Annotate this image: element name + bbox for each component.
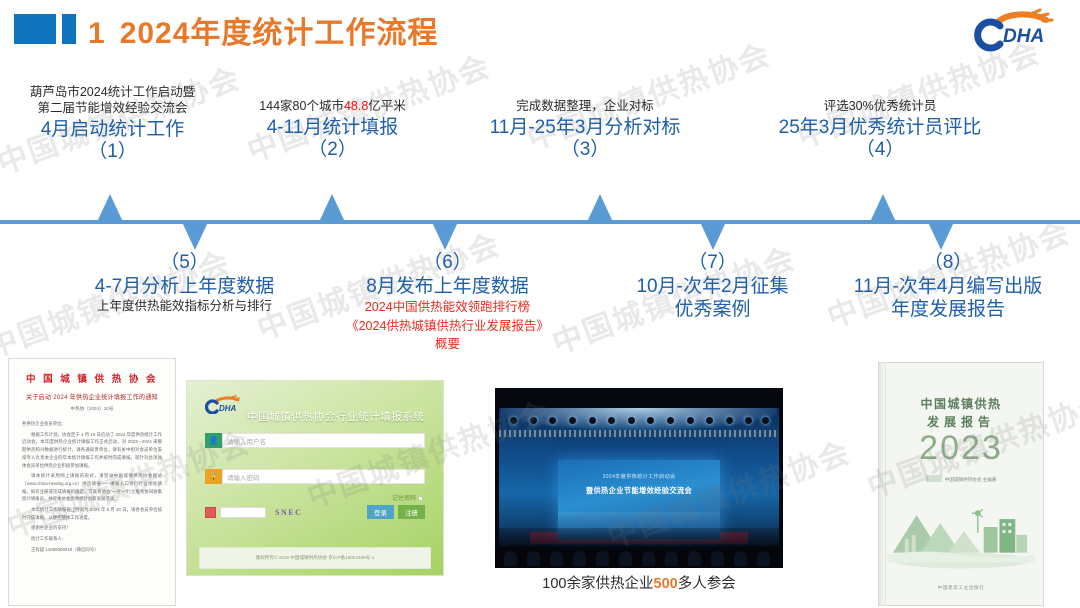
captcha-input[interactable] xyxy=(220,507,266,518)
milestone-8-title: 11月-次年4月编写出版 年度发展报告 xyxy=(828,275,1068,321)
report-author-badge: 中国城镇供热协会 主编著 xyxy=(879,475,1043,483)
stage-screen-line-1: 2024年度供热统计工作启动会 xyxy=(558,473,719,480)
report-publisher: 中国建筑工业出版社 xyxy=(879,585,1043,591)
milestone-5-index: （5） xyxy=(72,252,297,275)
remember-password-label: 记住密码 xyxy=(392,496,416,502)
notice-body-line: 感谢各企业的支持！ xyxy=(22,524,162,532)
milestone-2-note-suffix: 亿平米 xyxy=(368,99,406,113)
caption-suffix: 多人参会 xyxy=(678,576,736,592)
audience-area xyxy=(495,528,783,568)
milestone-1-index: （1） xyxy=(0,141,225,164)
svg-text:DHA: DHA xyxy=(1003,26,1044,47)
captcha-icon xyxy=(205,507,216,518)
badge-logo-icon xyxy=(926,475,942,482)
cdha-logo: DHA xyxy=(970,8,1066,54)
milestone-1: 葫芦岛市2024统计工作启动暨 第二届节能增效经验交流会 4月启动统计工作 （1… xyxy=(0,84,225,164)
milestone-1-note: 葫芦岛市2024统计工作启动暨 第二届节能增效经验交流会 xyxy=(0,84,225,116)
milestone-4-title: 25年3月优秀统计员评比 xyxy=(735,116,1025,139)
milestone-2-title: 4-11月统计填报 xyxy=(225,116,440,139)
notice-title: 关于启动 2024 年供热企业统计填报工作的通知 xyxy=(22,392,162,401)
milestone-8: （8） 11月-次年4月编写出版 年度发展报告 xyxy=(828,252,1068,321)
login-button[interactable]: 登录 xyxy=(367,505,394,519)
notice-body-line: 各供热企业会员单位： xyxy=(22,420,162,428)
milestone-2: 144家80个城市48.8亿平米 4-11月统计填报 （2） xyxy=(225,98,440,162)
login-username-row[interactable]: 👤 请输入用户名 xyxy=(205,433,425,448)
milestone-4-index: （4） xyxy=(735,139,1025,162)
milestone-5-title: 4-7月分析上年度数据 xyxy=(72,275,297,298)
notice-body-line: 王有超 13399300018（微信同号） xyxy=(22,546,162,554)
report-year: 2023 xyxy=(879,429,1043,468)
stage-truss xyxy=(499,430,779,437)
timeline-marker-down-5 xyxy=(182,222,208,250)
stage-light-bar xyxy=(499,414,779,430)
milestone-5: （5） 4-7月分析上年度数据 上年度供热能效指标分析与排行 xyxy=(72,252,297,315)
login-heading: 中国城镇供热协会行业统计填报系统 xyxy=(247,409,425,424)
report-title-line-1: 中国城镇供热 xyxy=(879,395,1043,412)
notice-body-line: 请本统计采用网上填报的形式，请登录中国城镇供热协会网站（www.china-he… xyxy=(22,472,162,503)
remember-password-checkbox[interactable]: 记住密码 xyxy=(392,493,423,502)
password-input[interactable]: 请输入密码 xyxy=(222,469,425,484)
svg-text:DHA: DHA xyxy=(219,404,237,413)
milestone-7-index: （7） xyxy=(605,252,820,275)
milestone-6-title: 8月发布上年度数据 xyxy=(340,275,555,298)
milestone-2-note-highlight: 48.8 xyxy=(344,99,368,113)
milestone-6-subtext-2: 《2024供热城镇供热行业发展报告》概要 xyxy=(340,317,555,355)
milestone-6: （6） 8月发布上年度数据 2024中国供热能效领跑排行榜 《2024供热城镇供… xyxy=(340,252,555,354)
header-decor-square-large xyxy=(14,14,56,44)
conference-caption: 100余家供热企业500多人参会 xyxy=(495,572,783,593)
login-footer: 版权所有© 2016 中国城镇供热协会 京ICP备16024406号-1 xyxy=(199,547,431,569)
notice-doc-code: 中热协〔2024〕10号 xyxy=(22,406,162,412)
report-title-line-2: 发展报告 xyxy=(879,413,1043,430)
milestone-6-subtext-1: 2024中国供热能效领跑排行榜 xyxy=(340,298,555,317)
milestone-3-note: 完成数据整理，企业对标 xyxy=(455,98,715,114)
timeline-marker-down-8 xyxy=(928,222,954,250)
milestone-2-note-prefix: 144家80个城市 xyxy=(259,99,344,113)
caption-highlight: 500 xyxy=(654,576,678,592)
timeline-marker-down-6 xyxy=(432,222,458,250)
page-title: 12024年度统计工作流程 xyxy=(88,8,438,52)
login-cdha-logo: DHA xyxy=(205,395,245,414)
notice-org-name: 中 国 城 镇 供 热 协 会 xyxy=(22,371,162,385)
milestone-8-index: （8） xyxy=(828,252,1068,275)
timeline-marker-up-3 xyxy=(587,194,613,222)
timeline-marker-up-1 xyxy=(97,194,123,222)
page-title-text: 2024年度统计工作流程 xyxy=(120,17,439,50)
milestone-7-title: 10月-次年2月征集 优秀案例 xyxy=(605,275,820,321)
milestone-4: 评选30%优秀统计员 25年3月优秀统计员评比 （4） xyxy=(735,98,1025,162)
login-password-row[interactable]: 🔒 请输入密码 xyxy=(205,469,425,484)
milestone-3-title: 11月-25年3月分析对标 xyxy=(455,116,715,139)
caption-prefix: 100余家供热企业 xyxy=(542,576,653,592)
captcha-code: SNEC xyxy=(275,508,302,517)
notice-body-line: 本年统计工作填报截止时间为 2024 年 8 月 30 日，请各会员单位按时完成… xyxy=(22,506,162,521)
report-cover-image: 中国城镇供热 发展报告 2023 中国城镇供热协会 主编著 中国建筑工业出版社 xyxy=(878,362,1044,606)
register-button[interactable]: 注册 xyxy=(398,505,425,519)
timeline-axis xyxy=(0,220,1080,224)
milestone-6-index: （6） xyxy=(340,252,555,275)
milestone-3-index: （3） xyxy=(455,139,715,162)
milestone-4-note: 评选30%优秀统计员 xyxy=(735,98,1025,114)
milestone-1-title: 4月启动统计工作 xyxy=(0,118,225,141)
notice-body-line: 根据工作计划，协会定于 4 月 19 日启动了 2024 年度供热统计工作启动会… xyxy=(22,431,162,470)
notice-document-image: 中 国 城 镇 供 热 协 会 关于启动 2024 年供热企业统计填报工作的通知… xyxy=(8,358,176,606)
statistics-login-screenshot: DHA 中国城镇供热协会行业统计填报系统 👤 请输入用户名 🔒 请输入密码 记住… xyxy=(186,380,444,576)
login-button-group: 登录 注册 xyxy=(367,505,425,519)
report-author-text: 中国城镇供热协会 主编著 xyxy=(945,477,997,482)
report-cover-illustration xyxy=(887,483,1035,571)
header-decor-square-small xyxy=(62,14,76,44)
milestone-2-index: （2） xyxy=(225,139,440,162)
timeline-marker-down-7 xyxy=(700,222,726,250)
username-input[interactable]: 请输入用户名 xyxy=(222,433,425,448)
timeline-marker-up-2 xyxy=(319,194,345,222)
notice-body-line: 统计工作联系人： xyxy=(22,535,162,543)
section-number: 1 xyxy=(88,17,106,51)
checkbox-box[interactable] xyxy=(418,496,423,501)
timeline-marker-up-4 xyxy=(870,194,896,222)
milestone-5-subtext: 上年度供热能效指标分析与排行 xyxy=(72,298,297,316)
slide-header: 12024年度统计工作流程 DHA xyxy=(0,0,1080,66)
milestone-7: （7） 10月-次年2月征集 优秀案例 xyxy=(605,252,820,321)
conference-photo: 2024年度供热统计工作启动会 暨供热企业节能增效经验交流会 xyxy=(495,388,783,568)
milestone-2-note: 144家80个城市48.8亿平米 xyxy=(225,98,440,114)
stage-screen-line-2: 暨供热企业节能增效经验交流会 xyxy=(558,486,719,496)
lock-icon: 🔒 xyxy=(205,469,222,484)
milestone-3: 完成数据整理，企业对标 11月-25年3月分析对标 （3） xyxy=(455,98,715,162)
user-icon: 👤 xyxy=(205,433,222,448)
